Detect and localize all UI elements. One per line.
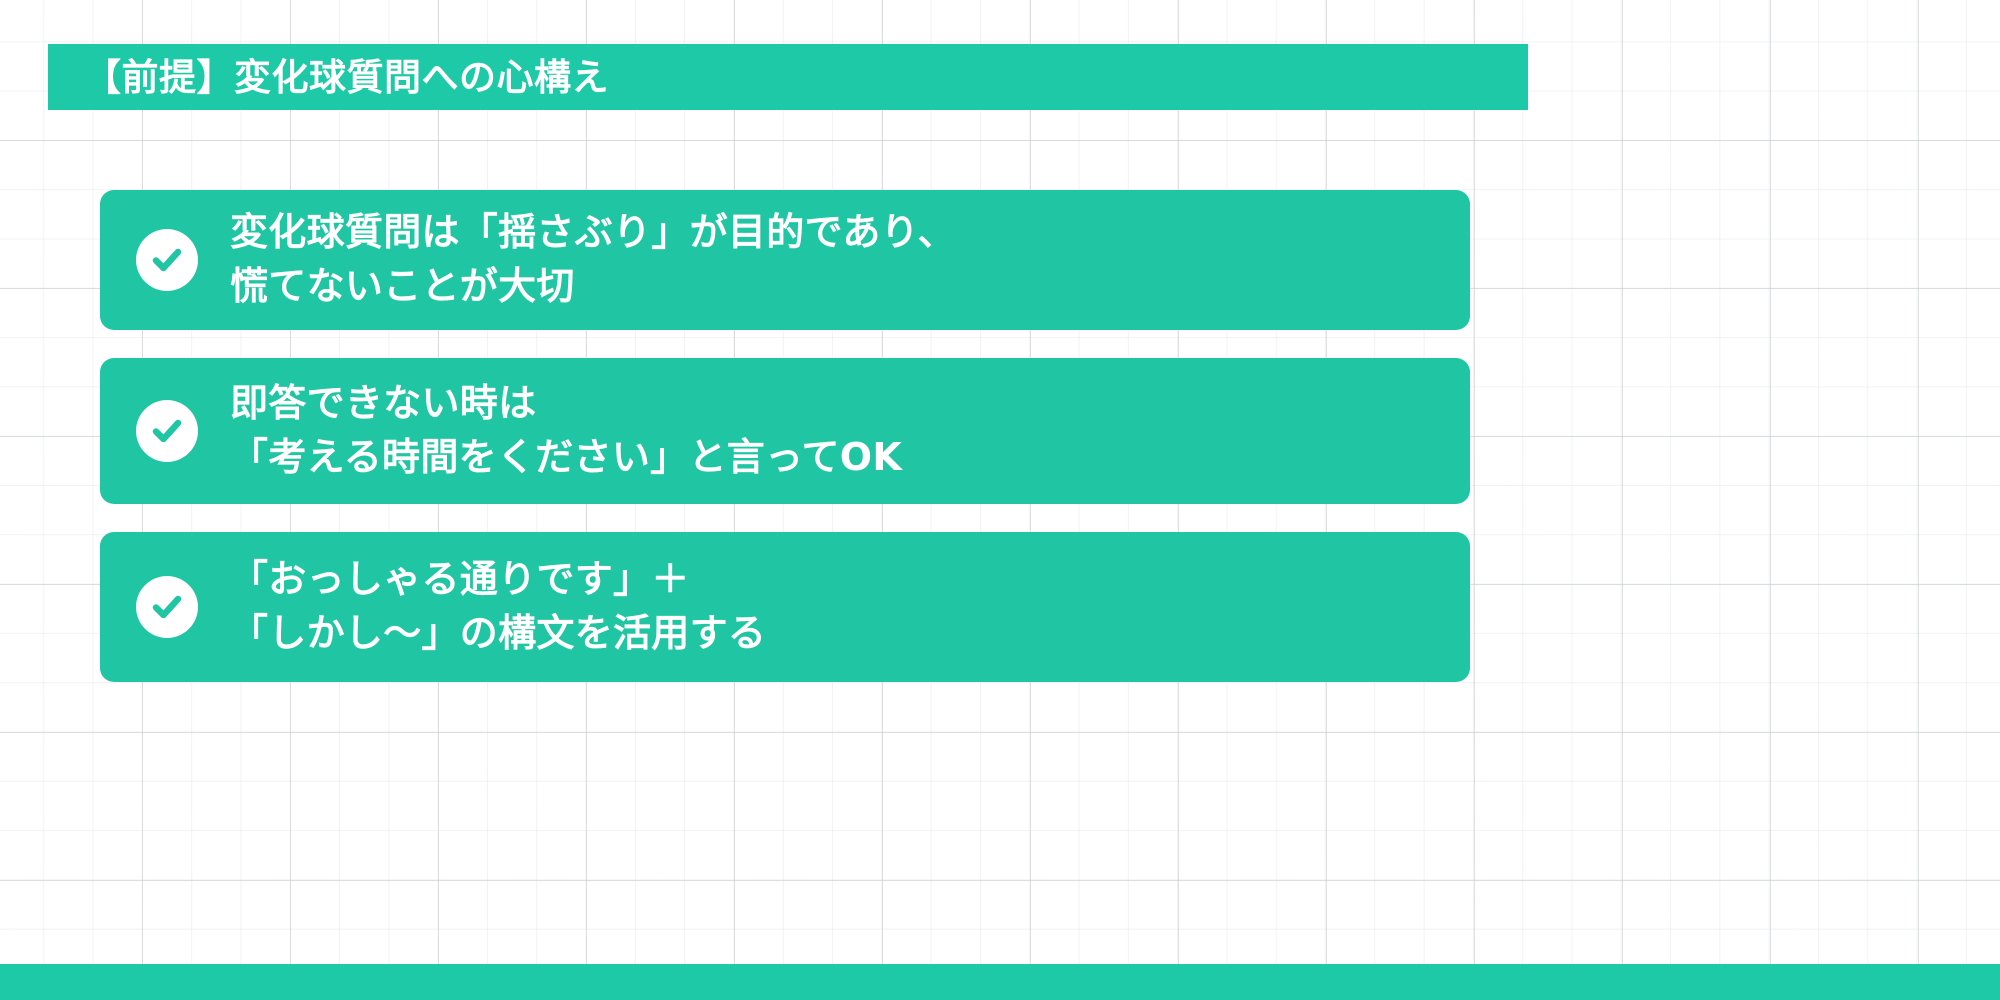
point-card-1[interactable]: 変化球質問は「揺さぶり」が目的であり、 慌てないことが大切: [100, 190, 1470, 330]
point-card-1-text: 変化球質問は「揺さぶり」が目的であり、 慌てないことが大切: [230, 206, 956, 314]
slide-canvas: 【前提】変化球質問への心構え 変化球質問は「揺さぶり」が目的であり、 慌てないこ…: [0, 0, 2000, 1000]
slide-title-bar: 【前提】変化球質問への心構え: [48, 44, 1528, 110]
point-card-1-line-2: 慌てないことが大切: [230, 260, 956, 314]
check-circle-icon: [136, 576, 198, 638]
check-circle-icon: [136, 229, 198, 291]
point-card-3-line-1: 「おっしゃる通りです」＋: [230, 553, 766, 607]
point-card-2-text: 即答できない時は 「考える時間をください」と言ってOK: [230, 377, 902, 485]
point-card-2[interactable]: 即答できない時は 「考える時間をください」と言ってOK: [100, 358, 1470, 504]
point-card-3-line-2: 「しかし〜」の構文を活用する: [230, 607, 766, 661]
page-title: 【前提】変化球質問への心構え: [84, 59, 609, 96]
point-card-2-line-2: 「考える時間をください」と言ってOK: [230, 431, 902, 485]
point-card-3[interactable]: 「おっしゃる通りです」＋ 「しかし〜」の構文を活用する: [100, 532, 1470, 682]
point-card-2-line-1: 即答できない時は: [230, 377, 902, 431]
point-card-3-text: 「おっしゃる通りです」＋ 「しかし〜」の構文を活用する: [230, 553, 766, 661]
check-circle-icon: [136, 400, 198, 462]
footer-accent-bar: [0, 964, 2000, 1000]
point-card-1-line-1: 変化球質問は「揺さぶり」が目的であり、: [230, 206, 956, 260]
